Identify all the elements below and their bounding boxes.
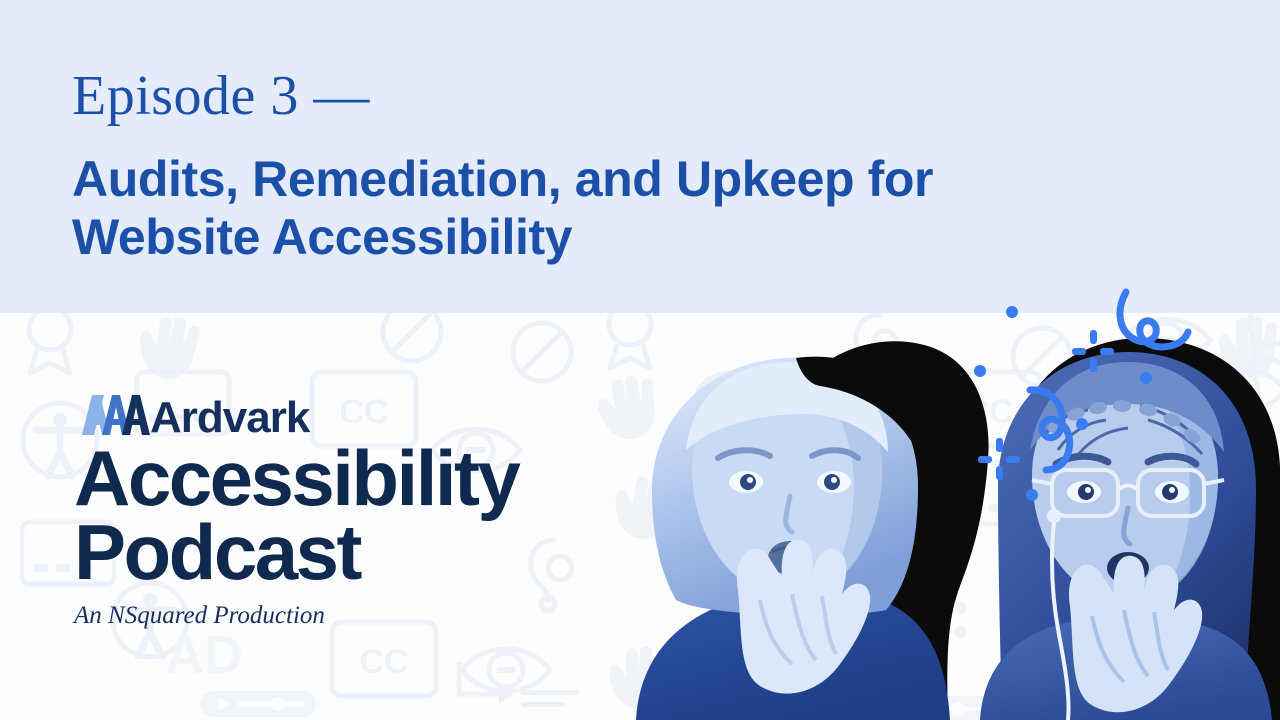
- brand-row: Ardvark: [74, 392, 518, 440]
- episode-title-line-1: Audits, Remediation, and Upkeep for: [72, 151, 933, 207]
- host-left-photo: [636, 341, 989, 720]
- podcast-logo-block: Ardvark Accessibility Podcast An NSquare…: [74, 392, 518, 630]
- page-title: Audits, Remediation, and Upkeep for Webs…: [72, 150, 1152, 266]
- show-title-line-1: Accessibility: [74, 442, 518, 514]
- show-title-line-2: Podcast: [74, 516, 518, 588]
- episode-title-line-2: Website Accessibility: [72, 209, 572, 265]
- host-right-photo: [980, 338, 1280, 720]
- host-photos: [600, 300, 1280, 720]
- episode-cover-canvas: CC AD: [0, 0, 1280, 720]
- aaardvark-triple-a-mark-icon: [74, 391, 152, 440]
- episode-label: Episode 3 —: [72, 68, 370, 124]
- episode-header-band: Episode 3 — Audits, Remediation, and Upk…: [0, 0, 1280, 313]
- production-tagline: An NSquared Production: [74, 602, 518, 630]
